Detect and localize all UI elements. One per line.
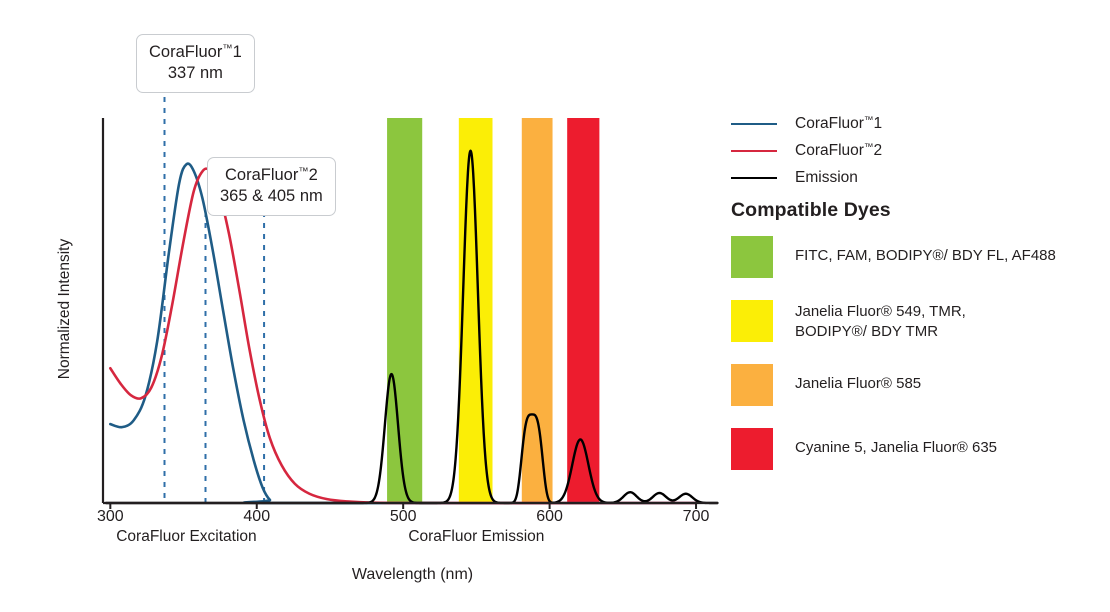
x-axis-title: Wavelength (nm) [0,566,825,584]
callout-corafluor2-value: 365 & 405 nm [220,186,323,207]
compatible-dyes-title: Compatible Dyes [731,199,891,222]
callout-corafluor1: CoraFluor™1 337 nm [136,34,255,93]
dye-row: FITC, FAM, BODIPY®/ BDY FL, AF488 [731,236,1081,278]
trademark-icon: ™ [298,167,308,178]
legend-row-emission[interactable]: Emission [731,164,1071,191]
dye-color-swatch [731,300,773,342]
dye-row: Cyanine 5, Janelia Fluor® 635 [731,428,1081,470]
line-legend: CoraFluor™1CoraFluor™2Emission [731,110,1071,191]
legend-line-swatch-icon [731,177,777,179]
green-band [387,118,422,503]
legend-label: Emission [795,169,858,187]
x-tick-label-600: 600 [520,508,580,526]
callout-corafluor1-title: CoraFluor™1 [149,42,242,63]
legend-label: CoraFluor™2 [795,142,882,160]
emission-range-label: CoraFluor Emission [366,528,586,546]
trademark-icon: ™ [864,115,874,126]
x-tick-label-400: 400 [227,508,287,526]
legend-line-swatch-icon [731,150,777,152]
dye-row: Janelia Fluor® 585 [731,364,1081,406]
x-tick-label-300: 300 [80,508,140,526]
orange-band [522,118,553,503]
x-tick-label-500: 500 [373,508,433,526]
x-tick-label-700: 700 [666,508,726,526]
compatible-dye-bands [387,118,599,503]
trademark-icon: ™ [864,142,874,153]
callout-corafluor1-value: 337 nm [149,63,242,84]
legend-label: CoraFluor™1 [795,115,882,133]
y-axis-title: Normalized Intensity [56,209,74,409]
trademark-icon: ™ [222,44,232,55]
callout-corafluor2: CoraFluor™2 365 & 405 nm [207,157,336,216]
excitation-range-label: CoraFluor Excitation [76,528,296,546]
dye-color-swatch [731,428,773,470]
dye-label: FITC, FAM, BODIPY®/ BDY FL, AF488 [795,236,1056,266]
fluorescence-spectra-figure: CoraFluor™1 337 nm CoraFluor™2 365 & 405… [0,0,1110,612]
legend-row-corafluor2[interactable]: CoraFluor™2 [731,137,1071,164]
dye-row: Janelia Fluor® 549, TMR, BODIPY®/ BDY TM… [731,300,1081,342]
dye-label: Janelia Fluor® 549, TMR, BODIPY®/ BDY TM… [795,300,966,342]
yellow-band [459,118,493,503]
compatible-dyes-list: FITC, FAM, BODIPY®/ BDY FL, AF488Janelia… [731,236,1081,492]
legend-line-swatch-icon [731,123,777,125]
dye-color-swatch [731,364,773,406]
legend-row-corafluor1[interactable]: CoraFluor™1 [731,110,1071,137]
dye-label: Cyanine 5, Janelia Fluor® 635 [795,428,997,458]
dye-label: Janelia Fluor® 585 [795,364,921,394]
callout-corafluor2-title: CoraFluor™2 [220,165,323,186]
dye-color-swatch [731,236,773,278]
